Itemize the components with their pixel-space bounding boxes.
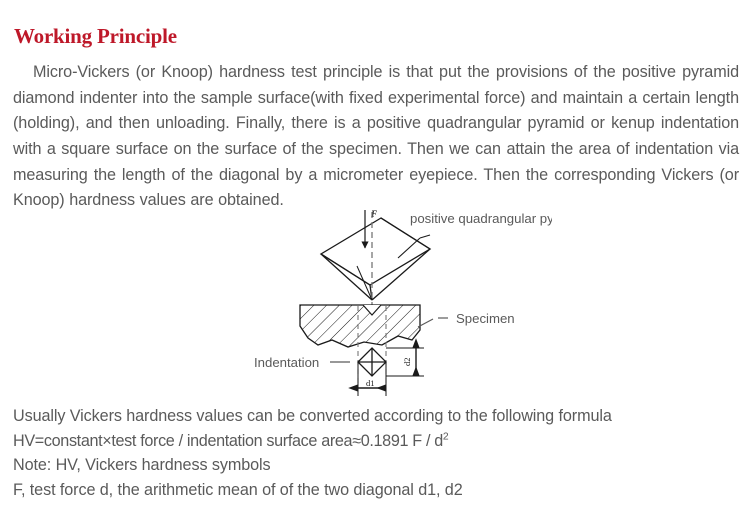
vickers-principle-diagram: F xyxy=(252,196,552,401)
intro-paragraph: Micro-Vickers (or Knoop) hardness test p… xyxy=(13,60,739,214)
hv-formula-line: HV=constant×test force / indentation sur… xyxy=(13,429,743,454)
specimen-block xyxy=(300,305,420,347)
indenter-label: positive quadrangular pyramid diamond in… xyxy=(410,211,552,226)
hv-formula-exponent: 2 xyxy=(443,431,448,442)
page-root: Working Principle Micro-Vickers (or Knoo… xyxy=(0,0,750,523)
specimen-leader-line xyxy=(418,318,448,327)
note-line: Note: HV, Vickers hardness symbols xyxy=(13,453,743,478)
specimen-label: Specimen xyxy=(456,311,515,326)
d1-label: d1 xyxy=(366,378,375,388)
d2-label: d2 xyxy=(402,358,412,367)
indentation-label: Indentation xyxy=(254,355,319,370)
indentation-square xyxy=(358,348,386,376)
force-label: F xyxy=(370,209,377,219)
legend-line: F, test force d, the arithmetic mean of … xyxy=(13,478,743,503)
conversion-intro-line: Usually Vickers hardness values can be c… xyxy=(13,404,743,429)
diagram-svg: F xyxy=(252,196,552,401)
hv-formula-text: HV=constant×test force / indentation sur… xyxy=(13,432,443,450)
page-title: Working Principle xyxy=(14,24,177,49)
lower-text-block: Usually Vickers hardness values can be c… xyxy=(13,404,743,502)
indenter-pyramid xyxy=(321,218,430,300)
